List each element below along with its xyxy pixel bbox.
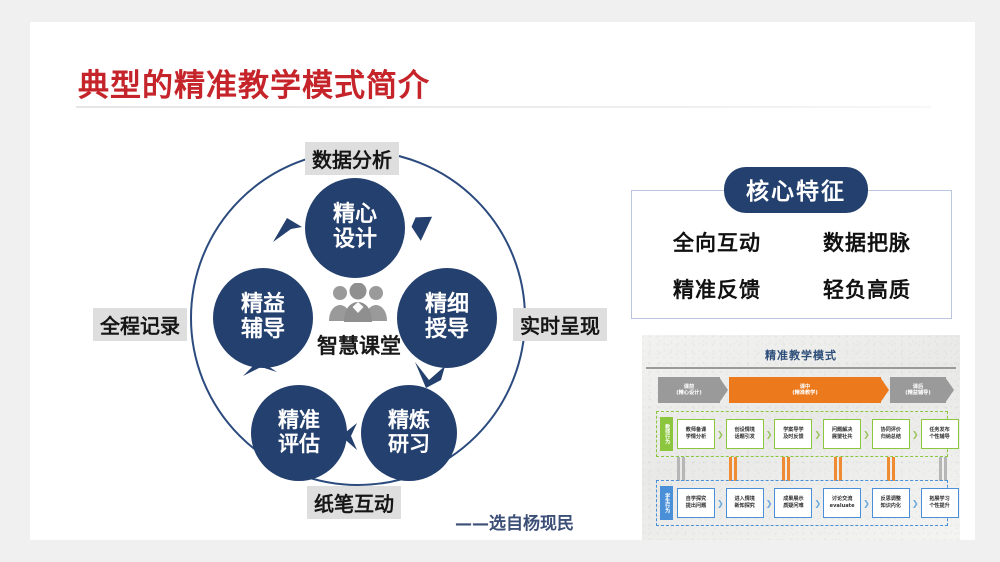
step-arrow-icon: ❯	[766, 430, 773, 439]
phase-band-after: 课后 (精益辅导)	[890, 377, 946, 403]
teacher-step: 创设情境 话题引发	[726, 419, 764, 449]
cycle-node-line1: 精准	[278, 409, 320, 433]
cycle-node-line1: 精细	[425, 293, 469, 318]
ring-tag-left: 全程记录	[93, 308, 187, 341]
student-behavior-row: 学生行为 自学探究 提出问题 ❯ 进入情境 新知探究 ❯ 成果展示 质疑问难 ❯…	[656, 480, 948, 526]
core-feature-item: 精准反馈	[673, 274, 761, 304]
core-feature-item: 轻负高质	[823, 274, 911, 304]
teacher-behavior-row: 教师行为 教师备课 学情分析 ❯ 创设情境 话题引发 ❯ 学案导学 及时反馈 ❯…	[656, 411, 948, 457]
photo-divider	[646, 367, 956, 369]
teacher-step: 问题解决 展望社共	[823, 419, 861, 449]
ring-tag-right: 实时呈现	[513, 308, 607, 341]
phase-line2: (精准教学)	[792, 390, 818, 397]
step-line2: 个性提升	[929, 503, 949, 510]
step-line1: 任务发布	[929, 427, 949, 434]
student-step: 讨论交流 evaluate	[823, 488, 861, 518]
step-line1: 协同评价	[881, 427, 901, 434]
step-line2: 知识内化	[881, 503, 901, 510]
step-line1: 问题解决	[832, 427, 852, 434]
step-line2: 展望社共	[832, 434, 852, 441]
arrow-pair-icon	[676, 457, 686, 481]
chevron-arrow-icon	[269, 212, 305, 246]
step-line2: 提出问题	[686, 503, 706, 510]
three-people-icon	[327, 283, 389, 323]
student-step: 自学探究 提出问题	[677, 488, 715, 518]
slide-canvas: 典型的精准教学模式简介 精心 设计 精细 授导 精炼	[30, 22, 975, 540]
step-line2: 新知探究	[735, 503, 755, 510]
attribution-text: ——选自杨现民	[455, 509, 574, 534]
arrow-pair-icon	[938, 457, 948, 481]
cycle-node-line2: 辅导	[241, 318, 285, 343]
student-row-label: 学生行为	[660, 486, 673, 520]
core-feature-item: 数据把脉	[823, 227, 911, 257]
arrow-pair-icon	[781, 457, 791, 481]
step-line2: 归纳总结	[881, 434, 901, 441]
ring-tag-top: 数据分析	[305, 142, 399, 175]
step-line2: 质疑问难	[783, 503, 803, 510]
cycle-node-line2: 评估	[278, 433, 320, 457]
step-line2: 及时反馈	[783, 434, 803, 441]
step-line1: 反思调整	[881, 496, 901, 503]
cycle-node-line1: 精益	[241, 293, 285, 318]
ring-tag-bottom: 纸笔互动	[307, 486, 401, 519]
teacher-row-label: 教师行为	[660, 417, 673, 451]
arrow-pair-icon	[728, 457, 738, 481]
teacher-step: 学案导学 及时反馈	[774, 419, 812, 449]
step-line1: 创设情境	[735, 427, 755, 434]
arrow-pair-icon	[886, 457, 896, 481]
student-step: 反思调整 知识内化	[872, 488, 910, 518]
step-line1: 教师备课	[686, 427, 706, 434]
cycle-node-jingxinsheji[interactable]: 精心 设计	[305, 178, 405, 278]
phase-band-during: 课中 (精准教学)	[729, 377, 881, 403]
student-step: 进入情境 新知探究	[726, 488, 764, 518]
precision-teaching-model-photo: 精准教学模式 课前 (精心设计) 课中 (精准教学) 课后 (精益辅导) 教师行…	[642, 335, 960, 540]
step-arrow-icon: ❯	[717, 430, 724, 439]
step-arrow-icon: ❯	[814, 430, 821, 439]
title-divider	[76, 106, 931, 108]
teacher-step: 教师备课 学情分析	[677, 419, 715, 449]
phase-band-row: 课前 (精心设计) 课中 (精准教学) 课后 (精益辅导)	[658, 377, 946, 403]
step-line2: 话题引发	[735, 434, 755, 441]
teacher-step: 协同评价 归纳总结	[872, 419, 910, 449]
cycle-diagram: 精心 设计 精细 授导 精炼 研习 精准 评估 精益 辅导 智慧	[145, 120, 615, 540]
student-step: 成果展示 质疑问难	[774, 488, 812, 518]
arrow-pair-icon	[833, 457, 843, 481]
step-line1: 讨论交流	[832, 496, 852, 503]
step-line2: 个性辅导	[929, 434, 949, 441]
step-arrow-icon: ❯	[766, 499, 773, 508]
step-line1: 自学探究	[686, 496, 706, 503]
teacher-step-list: 教师备课 学情分析 ❯ 创设情境 话题引发 ❯ 学案导学 及时反馈 ❯ 问题解决…	[677, 419, 959, 449]
step-line1: 拓展学习	[929, 496, 949, 503]
diagram-center-label: 智慧课堂	[285, 330, 433, 360]
phase-band-before: 课前 (精心设计)	[658, 377, 720, 403]
photo-title: 精准教学模式	[642, 347, 960, 363]
cycle-node-line1: 精炼	[388, 409, 430, 433]
cycle-node-line2: 设计	[333, 228, 377, 253]
cycle-node-line2: 研习	[388, 433, 430, 457]
step-line1: 成果展示	[783, 496, 803, 503]
step-arrow-icon: ❯	[814, 499, 821, 508]
cycle-node-jinglianyanxi[interactable]: 精炼 研习	[361, 385, 457, 481]
step-line2: evaluate	[830, 503, 855, 510]
core-feature-item: 全向互动	[673, 227, 761, 257]
step-arrow-icon: ❯	[863, 430, 870, 439]
core-features-list: 全向互动 数据把脉 精准反馈 轻负高质	[642, 218, 942, 313]
step-arrow-icon: ❯	[912, 499, 919, 508]
chevron-arrow-icon	[403, 212, 439, 246]
step-arrow-icon: ❯	[863, 499, 870, 508]
step-arrow-icon: ❯	[912, 430, 919, 439]
interaction-arrows	[676, 457, 948, 481]
step-line1: 学案导学	[783, 427, 803, 434]
phase-line2: (精益辅导)	[905, 390, 931, 397]
cycle-node-jingzhunpinggu[interactable]: 精准 评估	[251, 385, 347, 481]
phase-line2: (精心设计)	[676, 390, 702, 397]
student-step: 拓展学习 个性提升	[921, 488, 959, 518]
teacher-step: 任务发布 个性辅导	[921, 419, 959, 449]
step-line2: 学情分析	[686, 434, 706, 441]
student-step-list: 自学探究 提出问题 ❯ 进入情境 新知探究 ❯ 成果展示 质疑问难 ❯ 讨论交流…	[677, 488, 959, 518]
step-arrow-icon: ❯	[717, 499, 724, 508]
page-title: 典型的精准教学模式简介	[78, 60, 430, 105]
core-features-badge: 核心特征	[724, 167, 868, 213]
cycle-node-line1: 精心	[333, 203, 377, 228]
step-line1: 进入情境	[735, 496, 755, 503]
